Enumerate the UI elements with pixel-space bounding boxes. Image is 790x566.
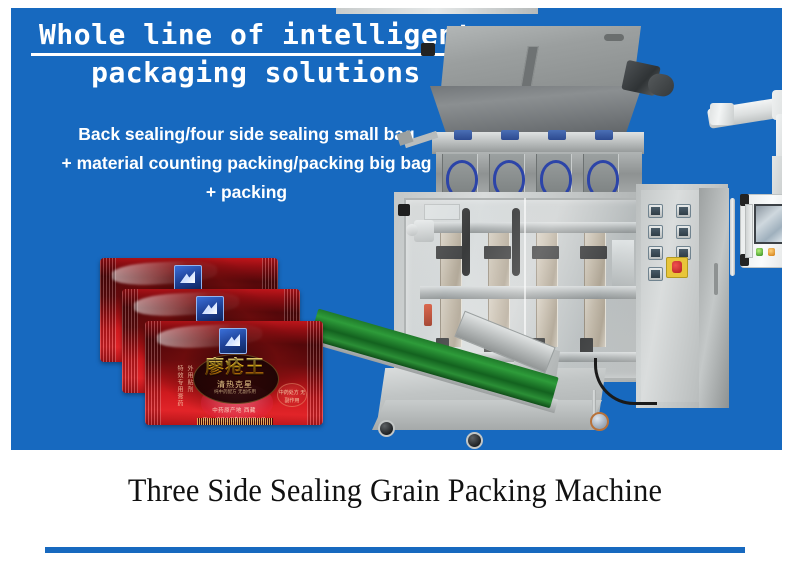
- hopper-top-lip: [336, 8, 538, 14]
- packet-brand-logo-icon: [219, 328, 247, 354]
- swing-arm-base: [710, 103, 734, 125]
- dose-nozzle-4: [595, 130, 613, 140]
- packet-footer-origin: 中药原产地 西藏: [163, 406, 305, 414]
- packet-barcode: [197, 418, 273, 425]
- packing-machine-photo: [336, 8, 782, 450]
- dose-nozzle-2: [501, 130, 519, 140]
- panel-button-1[interactable]: [648, 204, 663, 218]
- hmi-touchscreen[interactable]: [754, 204, 782, 244]
- hopper-end-cap: [421, 43, 435, 56]
- packet-product-subtitle-2: 纯中药配方 无副作用: [195, 389, 275, 395]
- packet-seal-stamp: 中药处方 无副作用: [277, 383, 307, 407]
- packet-brand-logo-icon: [196, 296, 224, 322]
- page-title: Three Side Sealing Grain Packing Machine: [32, 473, 759, 510]
- product-packet-front: 廖疮王 清热克星 纯中药配方 无副作用 特效专用膏药 外用贴剂 中药处方 无副作…: [145, 321, 323, 425]
- bottom-accent-rule: [45, 547, 745, 553]
- panel-button-4[interactable]: [676, 225, 691, 239]
- hopper-handle: [604, 34, 624, 41]
- caster-wheel-left: [378, 420, 395, 437]
- cabinet-right-wall: [699, 188, 729, 408]
- status-led-orange: [768, 248, 775, 256]
- panel-button-2[interactable]: [676, 204, 691, 218]
- power-cable: [594, 358, 657, 405]
- caster-wheel-center: [466, 432, 483, 449]
- packet-product-name: 廖疮王: [195, 357, 275, 377]
- machine-base-front: [372, 400, 602, 430]
- cabinet-door-handle[interactable]: [714, 263, 718, 295]
- dose-nozzle-3: [548, 130, 566, 140]
- packet-side-text-1: 特效专用膏药: [175, 365, 183, 407]
- dose-nozzle-1: [454, 130, 472, 140]
- packet-left-serration: [122, 289, 138, 393]
- hopper-taper: [430, 86, 642, 136]
- packet-right-serration: [307, 321, 323, 425]
- packet-side-text-2: 外用贴剂: [185, 365, 194, 393]
- packet-left-serration: [145, 321, 161, 425]
- promo-banner: Whole line of intelligent packaging solu…: [11, 8, 782, 450]
- packet-left-serration: [100, 258, 116, 362]
- panel-button-7[interactable]: [648, 267, 663, 281]
- panel-button-3[interactable]: [648, 225, 663, 239]
- hmi-left-grip[interactable]: [745, 204, 753, 258]
- swing-arm-vertical-lower: [772, 156, 782, 198]
- status-led-green: [756, 248, 763, 256]
- packet-brand-logo-icon: [174, 265, 202, 291]
- panel-button-5[interactable]: [648, 246, 663, 260]
- main-power-switch[interactable]: [666, 257, 688, 278]
- caster-wheel-right: [590, 412, 609, 431]
- support-rod: [730, 198, 735, 276]
- door-hinge-top-left: [398, 204, 410, 216]
